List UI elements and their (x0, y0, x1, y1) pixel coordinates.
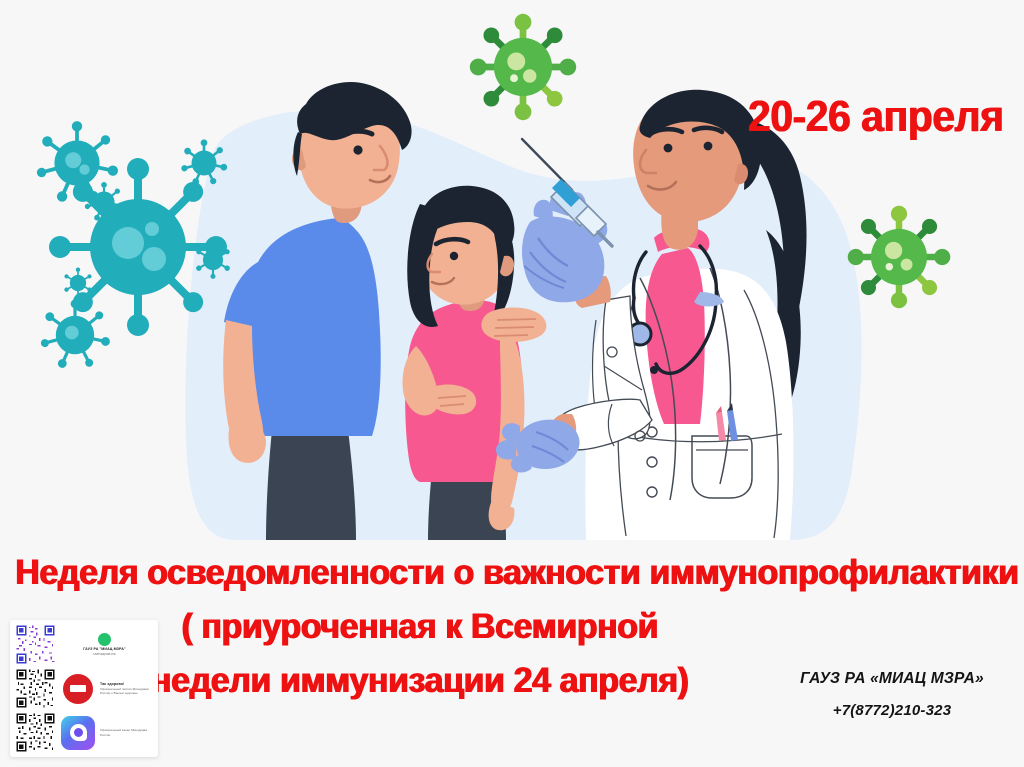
organization-phone: +7(8772)210-323 (772, 702, 1012, 719)
qr-code-card[interactable]: ГАУЗ РА "МИАЦ МЗРА" МИНЗДРАВ.РФ (10, 620, 158, 757)
max-messenger-logo (98, 633, 111, 646)
qr-code-icon[interactable] (15, 668, 56, 709)
date-badge: 20-26 апреля (748, 92, 1004, 142)
qr-label-miac: ГАУЗ РА "МИАЦ МЗРА" МИНЗДРАВ.РФ (56, 633, 153, 656)
headline-line-2: ( приуроченная к Всемирной (15, 600, 1008, 654)
max-channel-logo (60, 715, 96, 751)
headline-line-1: Неделя осведомленности о важности иммуно… (15, 546, 1008, 600)
virus-green-top (470, 14, 576, 120)
qr-code-icon[interactable] (15, 624, 56, 665)
qr-row-miac[interactable]: ГАУЗ РА "МИАЦ МЗРА" МИНЗДРАВ.РФ (15, 624, 153, 665)
virus-icon (40, 299, 111, 369)
qr-subtitle-takzdorovo: Официальный портал Минздрава России о Ва… (100, 687, 153, 695)
qr-subtitle-channel: Официальный канал Минздрава России (100, 728, 153, 736)
qr-code-icon[interactable] (15, 712, 56, 753)
qr-subtitle-miac: МИНЗДРАВ.РФ (56, 652, 153, 656)
father-hand-on-shoulder (481, 308, 546, 343)
qr-label-takzdorovo: Так здорово! Официальный портал Минздрав… (100, 682, 153, 695)
organization-block: ГАУЗ РА «МИАЦ МЗРА» +7(8772)210-323 (772, 670, 1012, 719)
organization-name: ГАУЗ РА «МИАЦ МЗРА» (772, 670, 1012, 688)
qr-row-takzdorovo[interactable]: Так здорово! Официальный портал Минздрав… (15, 668, 153, 709)
poster-canvas: 20-26 апреля Неделя осведомленности о ва… (0, 0, 1024, 767)
qr-row-channel[interactable]: Официальный канал Минздрава России (15, 712, 153, 753)
virus-green-right (848, 206, 951, 309)
qr-label-channel: Официальный канал Минздрава России (100, 728, 153, 736)
takzdorovo-logo (60, 671, 96, 707)
